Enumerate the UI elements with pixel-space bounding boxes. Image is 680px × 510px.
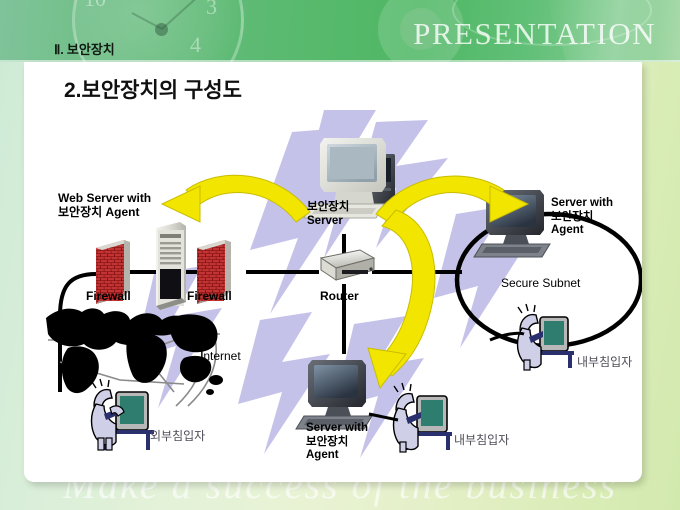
firewall-left-label: Firewall xyxy=(86,290,131,304)
presentation-banner-text: PRESENTATION xyxy=(413,16,656,52)
external-intruder-icon xyxy=(92,379,155,450)
clock-numeral: 3 xyxy=(206,0,217,20)
web-server-tower-icon xyxy=(156,222,186,310)
internet-label: Internet xyxy=(200,350,241,364)
clock-numeral: 4 xyxy=(190,32,201,58)
center-server-label: 보안장치 Server xyxy=(307,201,349,228)
router-label: Router xyxy=(320,290,359,304)
internal-intruder-bottom-label: 내부침입자 xyxy=(454,434,509,448)
internal-intruder-right-label: 내부침입자 xyxy=(577,356,632,370)
web-server-label: Web Server with 보안장치 Agent xyxy=(58,192,151,219)
firewall-right-label: Firewall xyxy=(187,290,232,304)
right-server-label: Server with 보안장치 Agent xyxy=(551,197,613,238)
breadcrumb: Ⅱ. 보안장치 xyxy=(54,39,115,58)
slide-content-card: 2.보안장치의 구성도 xyxy=(24,62,642,482)
router-icon xyxy=(321,250,374,280)
bottom-server-label: Server with 보안장치 Agent xyxy=(306,422,368,463)
clock-numeral: 10 xyxy=(84,0,106,12)
internal-intruder-right-icon xyxy=(490,304,574,370)
network-architecture-diagram: Web Server with 보안장치 Agent Firewall Fire… xyxy=(24,62,642,482)
external-intruder-label: 외부침입자 xyxy=(150,430,205,444)
world-map-icon xyxy=(46,308,223,395)
secure-subnet-label: Secure Subnet xyxy=(501,277,580,291)
